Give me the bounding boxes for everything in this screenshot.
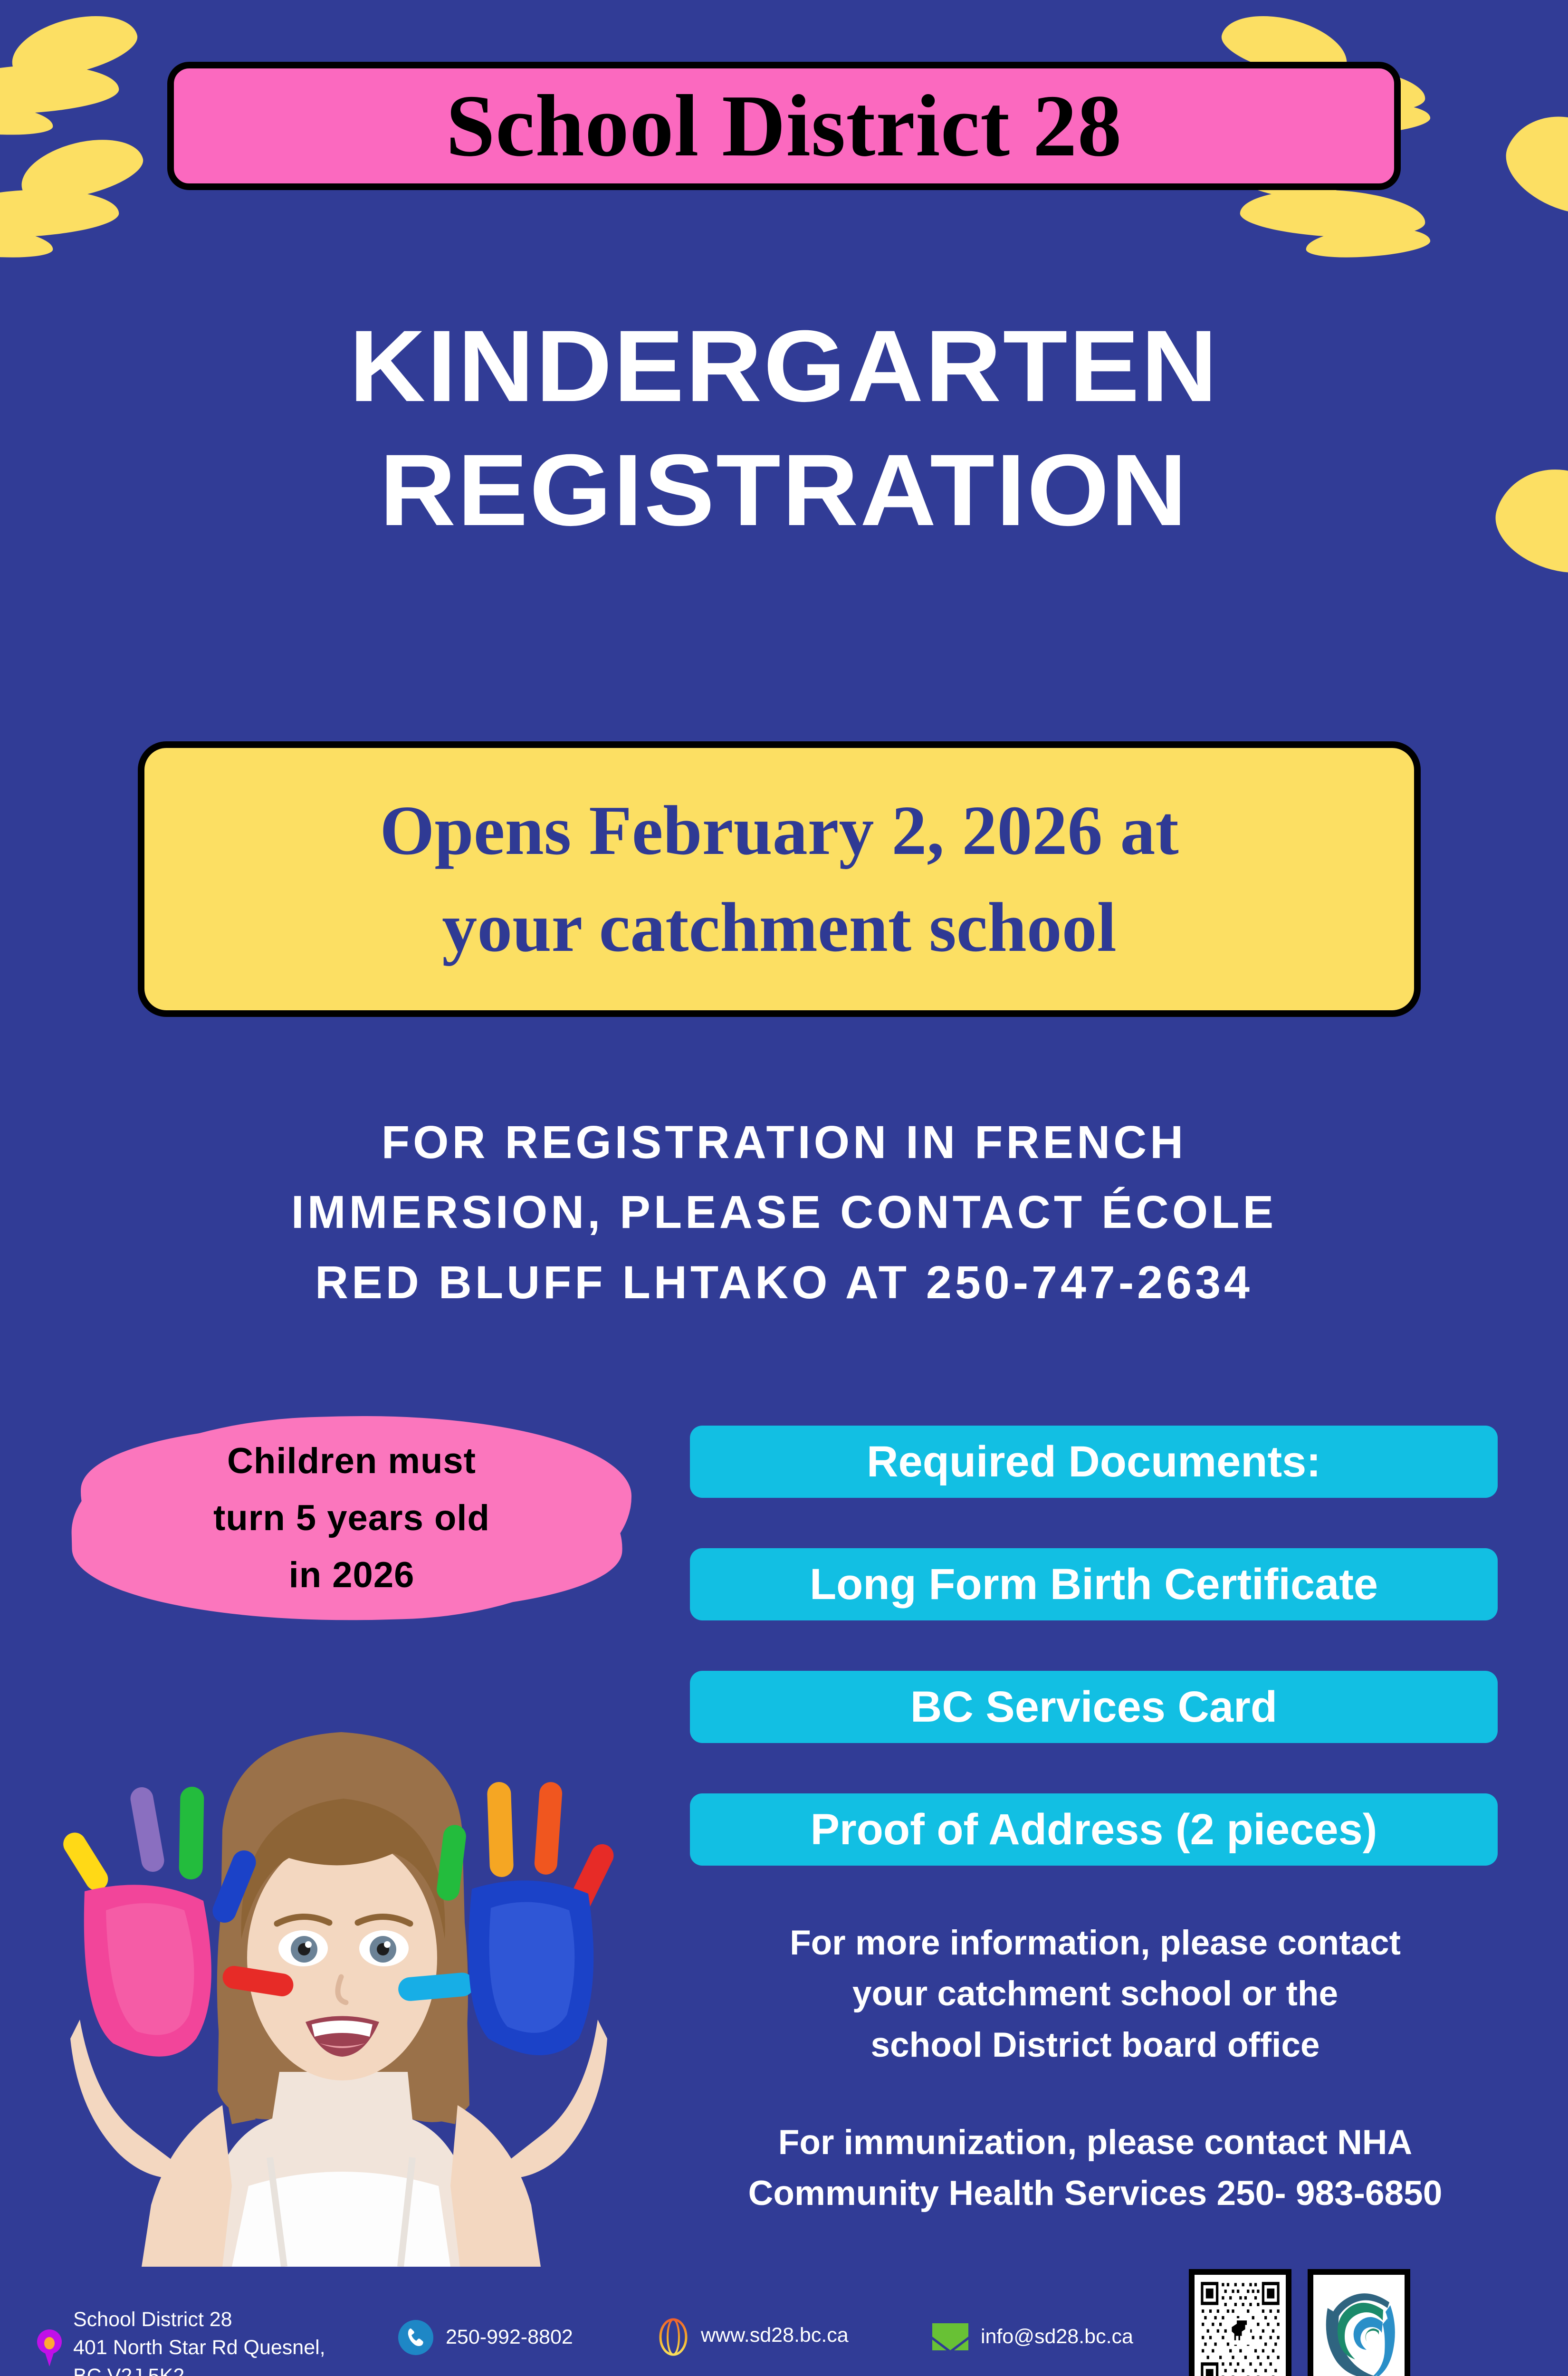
french-line-3: RED BLUFF LHTAKO AT 250-747-2634	[0, 1247, 1568, 1317]
child-with-painted-hands-illustration	[32, 1711, 648, 2267]
footer-phone-text: 250-992-8802	[446, 2323, 573, 2351]
footer-email-item[interactable]: info@sd28.bc.ca	[932, 2323, 1133, 2351]
registration-date-box: Opens February 2, 2026 at your catchment…	[138, 741, 1421, 1017]
age-requirement-text: Children must turn 5 years old in 2026	[71, 1416, 632, 1620]
main-heading-line-1: KINDERGARTEN	[349, 309, 1219, 423]
date-line-2: your catchment school	[442, 879, 1117, 976]
leaf-icon	[0, 61, 120, 118]
footer-phone-item[interactable]: 250-992-8802	[398, 2320, 573, 2355]
child-photo	[32, 1711, 648, 2267]
kindergarten-registration-poster: School District 28 KINDERGARTEN REGISTRA…	[0, 0, 1568, 2376]
age-line-3: in 2026	[289, 1547, 415, 1604]
globe-icon	[658, 2318, 688, 2353]
immunization-line-2: Community Health Services 250- 983-6850	[675, 2168, 1516, 2219]
envelope-icon	[932, 2323, 968, 2350]
french-immersion-notice: FOR REGISTRATION IN FRENCH IMMERSION, PL…	[0, 1107, 1568, 1317]
leaf-icon	[0, 100, 54, 138]
qr-code[interactable]	[1189, 2269, 1291, 2376]
document-bar-proof-of-address: Proof of Address (2 pieces)	[690, 1793, 1498, 1866]
more-information-paragraph: For more information, please contact you…	[675, 1917, 1516, 2070]
address-line-3: BC V2J 5K2	[73, 2362, 325, 2376]
footer-email-text: info@sd28.bc.ca	[981, 2323, 1133, 2351]
footer-website-text: www.sd28.bc.ca	[701, 2321, 849, 2349]
date-line-1: Opens February 2, 2026 at	[380, 782, 1178, 879]
leaf-decoration-left-top	[0, 14, 143, 280]
location-pin-icon	[37, 2329, 62, 2366]
document-bar-birth-certificate: Long Form Birth Certificate	[690, 1548, 1498, 1620]
title-banner: School District 28	[167, 62, 1401, 190]
french-line-2: IMMERSION, PLEASE CONTACT ÉCOLE	[0, 1177, 1568, 1247]
leaf-icon	[1239, 185, 1427, 241]
footer-address-text: School District 28 401 North Star Rd Que…	[73, 2306, 325, 2376]
french-line-1: FOR REGISTRATION IN FRENCH	[0, 1107, 1568, 1177]
age-line-2: turn 5 years old	[213, 1490, 490, 1547]
leaf-icon	[1493, 97, 1568, 230]
sd28-spiral-logo-icon	[1318, 2283, 1400, 2376]
dinosaur-icon	[1230, 2319, 1250, 2345]
leaf-icon	[0, 185, 120, 241]
school-district-logo	[1308, 2269, 1410, 2376]
footer-website-item[interactable]: www.sd28.bc.ca	[658, 2318, 849, 2353]
address-line-2: 401 North Star Rd Quesnel,	[73, 2334, 325, 2362]
address-line-1: School District 28	[73, 2306, 325, 2334]
immunization-line-1: For immunization, please contact NHA	[675, 2117, 1516, 2168]
phone-icon	[398, 2320, 433, 2355]
footer-address-item: School District 28 401 North Star Rd Que…	[37, 2306, 325, 2376]
page-title: School District 28	[446, 82, 1122, 170]
leaf-icon	[5, 4, 142, 87]
document-bar-bc-services-card: BC Services Card	[690, 1671, 1498, 1743]
age-line-1: Children must	[227, 1433, 476, 1490]
qr-code-pattern	[1198, 2279, 1282, 2376]
age-requirement-badge: Children must turn 5 years old in 2026	[71, 1416, 632, 1620]
leaf-icon	[1305, 224, 1431, 261]
document-bar-heading: Required Documents:	[690, 1426, 1498, 1498]
main-heading-line-2: REGISTRATION	[0, 428, 1568, 552]
more-info-line-1: For more information, please contact	[675, 1917, 1516, 1968]
more-info-line-3: school District board office	[675, 2020, 1516, 2070]
leaf-icon	[15, 128, 148, 209]
immunization-paragraph: For immunization, please contact NHA Com…	[675, 2117, 1516, 2219]
more-info-line-2: your catchment school or the	[675, 1968, 1516, 2019]
main-heading: KINDERGARTEN REGISTRATION	[0, 304, 1568, 552]
leaf-icon	[0, 224, 54, 261]
